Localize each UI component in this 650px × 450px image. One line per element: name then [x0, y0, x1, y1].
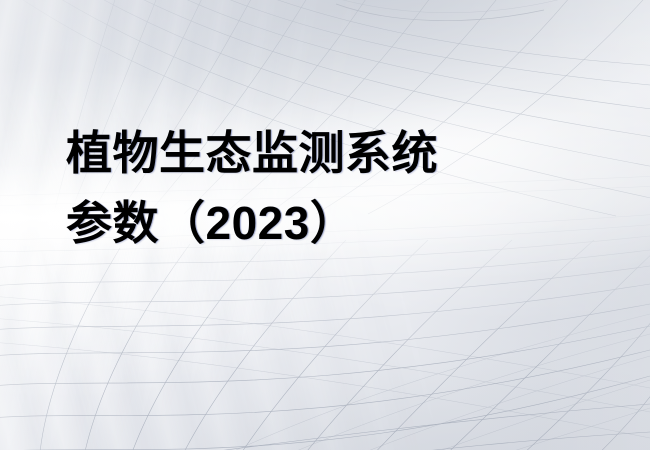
slide-title: 植物生态监测系统 参数（2023） [66, 118, 626, 258]
slide-title-line-2: 参数（2023） [66, 188, 626, 258]
title-slide: 植物生态监测系统 参数（2023） [0, 0, 650, 450]
slide-title-line-1: 植物生态监测系统 [66, 118, 626, 188]
